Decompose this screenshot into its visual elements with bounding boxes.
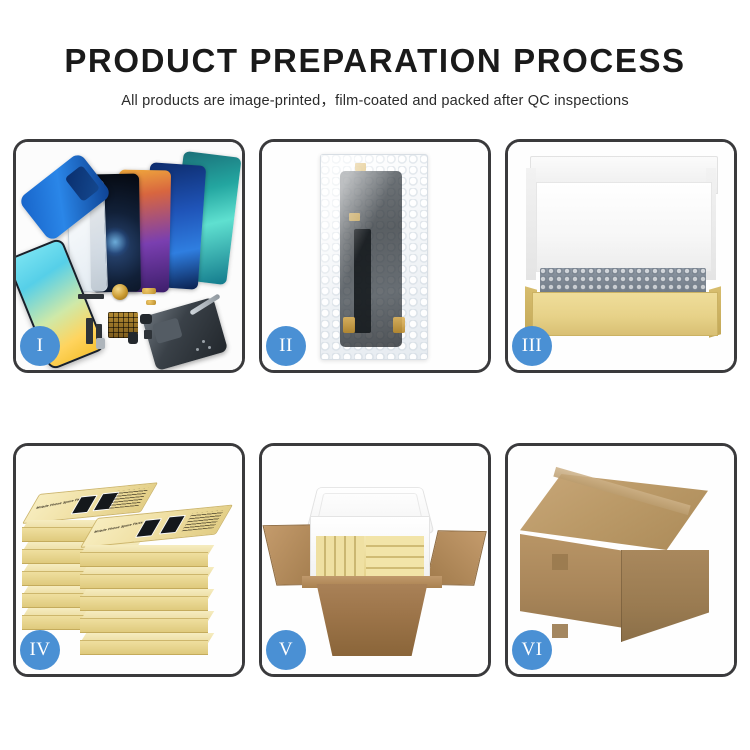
box-front-face (80, 618, 208, 633)
step-panel-5: V (259, 443, 491, 677)
box-spec-lines-icon (182, 510, 224, 531)
retail-box (80, 567, 208, 589)
screw-icon (202, 340, 205, 343)
retail-box (80, 589, 208, 611)
box-front-face (80, 596, 208, 611)
small-part-icon (144, 330, 152, 339)
flex-cable-icon (354, 229, 371, 333)
carton-corner-seam (621, 550, 622, 642)
box-stack-front: Mobile Phone Spare Parts (80, 518, 208, 658)
white-foam-sheet-icon (536, 182, 712, 272)
retail-box (80, 611, 208, 633)
packed-boxes-vertical (316, 536, 364, 578)
box-window-icon (159, 515, 186, 535)
step-panel-4: Mobile Phone Spare Parts (13, 443, 245, 677)
box-front-face (80, 552, 208, 567)
carton-tab-icon (552, 554, 568, 570)
carton-tab-icon (552, 624, 568, 638)
tape-tab-icon (355, 163, 366, 171)
gold-connector-icon (343, 317, 355, 333)
header: PRODUCT PREPARATION PROCESS All products… (0, 0, 750, 110)
retail-box (80, 633, 208, 655)
screw-icon (208, 346, 211, 349)
tape-tab-icon (349, 213, 360, 221)
product-preparation-infographic: PRODUCT PREPARATION PROCESS All products… (0, 0, 750, 750)
step-badge-2: II (266, 326, 306, 366)
gold-connector-icon (142, 288, 156, 294)
page-subtitle: All products are image-printed，film-coat… (0, 89, 750, 110)
gold-connector-icon (146, 300, 156, 305)
sim-tray-icon (96, 338, 105, 349)
step-badge-5: V (266, 630, 306, 670)
camera-module-icon (140, 314, 152, 324)
step-badge-6: VI (512, 630, 552, 670)
step-badge-4: IV (20, 630, 60, 670)
box-spec-lines-icon (107, 488, 149, 509)
box-front-face (80, 640, 208, 655)
step-panel-2: II (259, 139, 491, 373)
process-step-grid: I II (13, 139, 737, 677)
page-title: PRODUCT PREPARATION PROCESS (0, 44, 750, 79)
speaker-coil-icon (112, 284, 128, 300)
bubble-wrap-bag-icon (320, 154, 428, 360)
box-label-text: Mobile Phone Spare Parts (93, 520, 143, 534)
camera-module-icon (128, 332, 138, 344)
packed-boxes-icon (316, 536, 424, 578)
step-panel-3: III (505, 139, 737, 373)
screw-icon (196, 348, 199, 351)
box-lid-left-icon (526, 168, 536, 280)
flex-cable-icon (78, 294, 104, 299)
packed-boxes-horizontal (366, 536, 424, 578)
step-panel-6: VI (505, 443, 737, 677)
step-panel-1: I (13, 139, 245, 373)
retail-box (80, 545, 208, 567)
step-badge-3: III (512, 326, 552, 366)
gold-connector-icon (393, 317, 405, 333)
step-badge-1: I (20, 326, 60, 366)
kraft-box-front-icon (532, 292, 718, 336)
flex-cable-icon (86, 318, 93, 344)
box-front-face (80, 574, 208, 589)
